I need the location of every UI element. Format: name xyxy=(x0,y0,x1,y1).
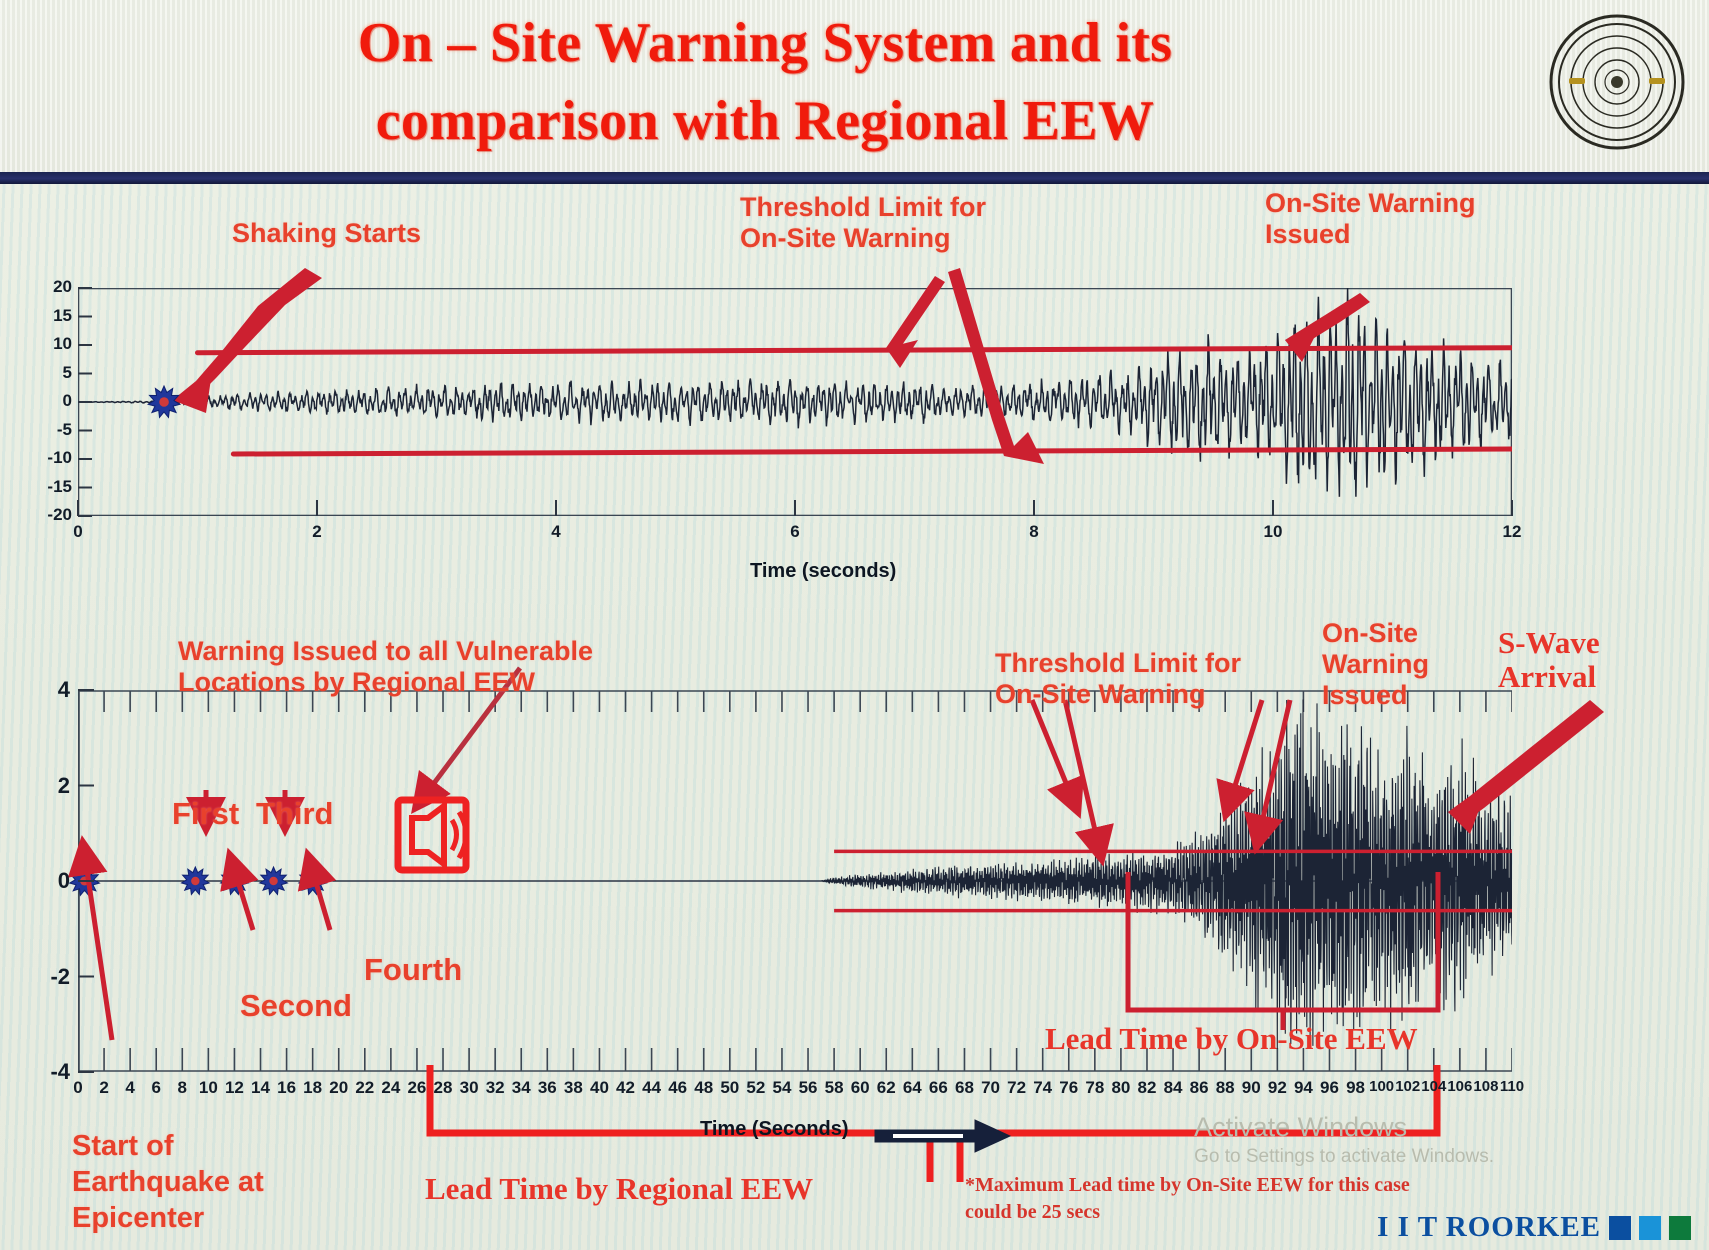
annotation-bottom-threshold-limit: Threshold Limit for On-Site Warning xyxy=(995,648,1241,710)
bottom-y-tick-label: 4 xyxy=(22,677,70,703)
annotation-lead-time-onsite: Lead Time by On-Site EEW xyxy=(1045,1022,1418,1056)
top-x-tick-label: 10 xyxy=(1243,522,1303,542)
annotation-fourth: Fourth xyxy=(364,954,462,985)
annotation-regional-warning: Warning Issued to all Vulnerable Locatio… xyxy=(178,636,593,698)
windows-activation-watermark: Activate Windows Go to Settings to activ… xyxy=(1194,1112,1494,1172)
bottom-x-tick-label: 110 xyxy=(1490,1078,1534,1095)
top-x-tick-label: 0 xyxy=(48,522,108,542)
bottom-y-tick-label: 2 xyxy=(22,773,70,799)
slide-canvas: On – Site Warning System and its compari… xyxy=(0,0,1709,1250)
watermark-line-2: Go to Settings to activate Windows. xyxy=(1194,1142,1494,1172)
annotation-start-of-earthquake: Start of Earthquake at Epicenter xyxy=(72,1128,264,1236)
annotation-shaking-starts: Shaking Starts xyxy=(232,218,421,249)
annotation-second: Second xyxy=(240,990,352,1021)
footer-square-1 xyxy=(1609,1216,1631,1240)
footer-square-2 xyxy=(1639,1216,1661,1240)
title-line-2: comparison with Regional EEW xyxy=(150,82,1380,160)
bottom-y-tick-label: -2 xyxy=(22,964,70,990)
annotation-top-threshold-limit: Threshold Limit for On-Site Warning xyxy=(740,192,986,254)
top-y-tick-label: 0 xyxy=(18,391,72,411)
institution-name: I I T ROORKEE xyxy=(1377,1211,1601,1244)
top-y-tick-label: 20 xyxy=(18,277,72,297)
annotation-lead-time-regional: Lead Time by Regional EEW xyxy=(425,1172,813,1206)
top-x-tick-label: 8 xyxy=(1004,522,1064,542)
top-x-tick-label: 4 xyxy=(526,522,586,542)
top-chart-svg xyxy=(78,288,1512,516)
annotation-footnote: *Maximum Lead time by On-Site EEW for th… xyxy=(965,1172,1410,1226)
top-chart-plot xyxy=(78,288,1512,516)
top-x-tick-label: 12 xyxy=(1482,522,1542,542)
title-divider xyxy=(0,172,1709,184)
bottom-chart-axis-title: Time (Seconds) xyxy=(700,1118,849,1141)
annotation-third: Third xyxy=(256,798,334,829)
top-x-tick-label: 2 xyxy=(287,522,347,542)
title-band: On – Site Warning System and its compari… xyxy=(0,0,1709,172)
top-y-tick-label: -5 xyxy=(18,420,72,440)
top-y-tick-label: 5 xyxy=(18,363,72,383)
footer-square-3 xyxy=(1669,1216,1691,1240)
annotation-bottom-warning-issued: On-Site Warning Issued xyxy=(1322,618,1429,711)
annotation-first: First xyxy=(172,798,239,829)
top-x-tick-label: 6 xyxy=(765,522,825,542)
page-title: On – Site Warning System and its compari… xyxy=(150,4,1380,160)
annotation-top-warning-issued: On-Site Warning Issued xyxy=(1265,188,1476,250)
watermark-line-1: Activate Windows xyxy=(1194,1112,1494,1142)
iit-roorkee-emblem-icon xyxy=(1547,8,1687,158)
top-y-tick-label: -15 xyxy=(18,477,72,497)
top-chart-axis-title: Time (seconds) xyxy=(750,560,896,583)
top-y-tick-label: 15 xyxy=(18,306,72,326)
bottom-y-tick-label: 0 xyxy=(22,868,70,894)
annotation-s-wave-arrival: S-Wave Arrival xyxy=(1498,626,1600,694)
top-y-tick-label: -10 xyxy=(18,448,72,468)
title-line-1: On – Site Warning System and its xyxy=(150,4,1380,82)
top-y-tick-label: 10 xyxy=(18,334,72,354)
iit-roorkee-footer: I I T ROORKEE xyxy=(1377,1211,1691,1244)
